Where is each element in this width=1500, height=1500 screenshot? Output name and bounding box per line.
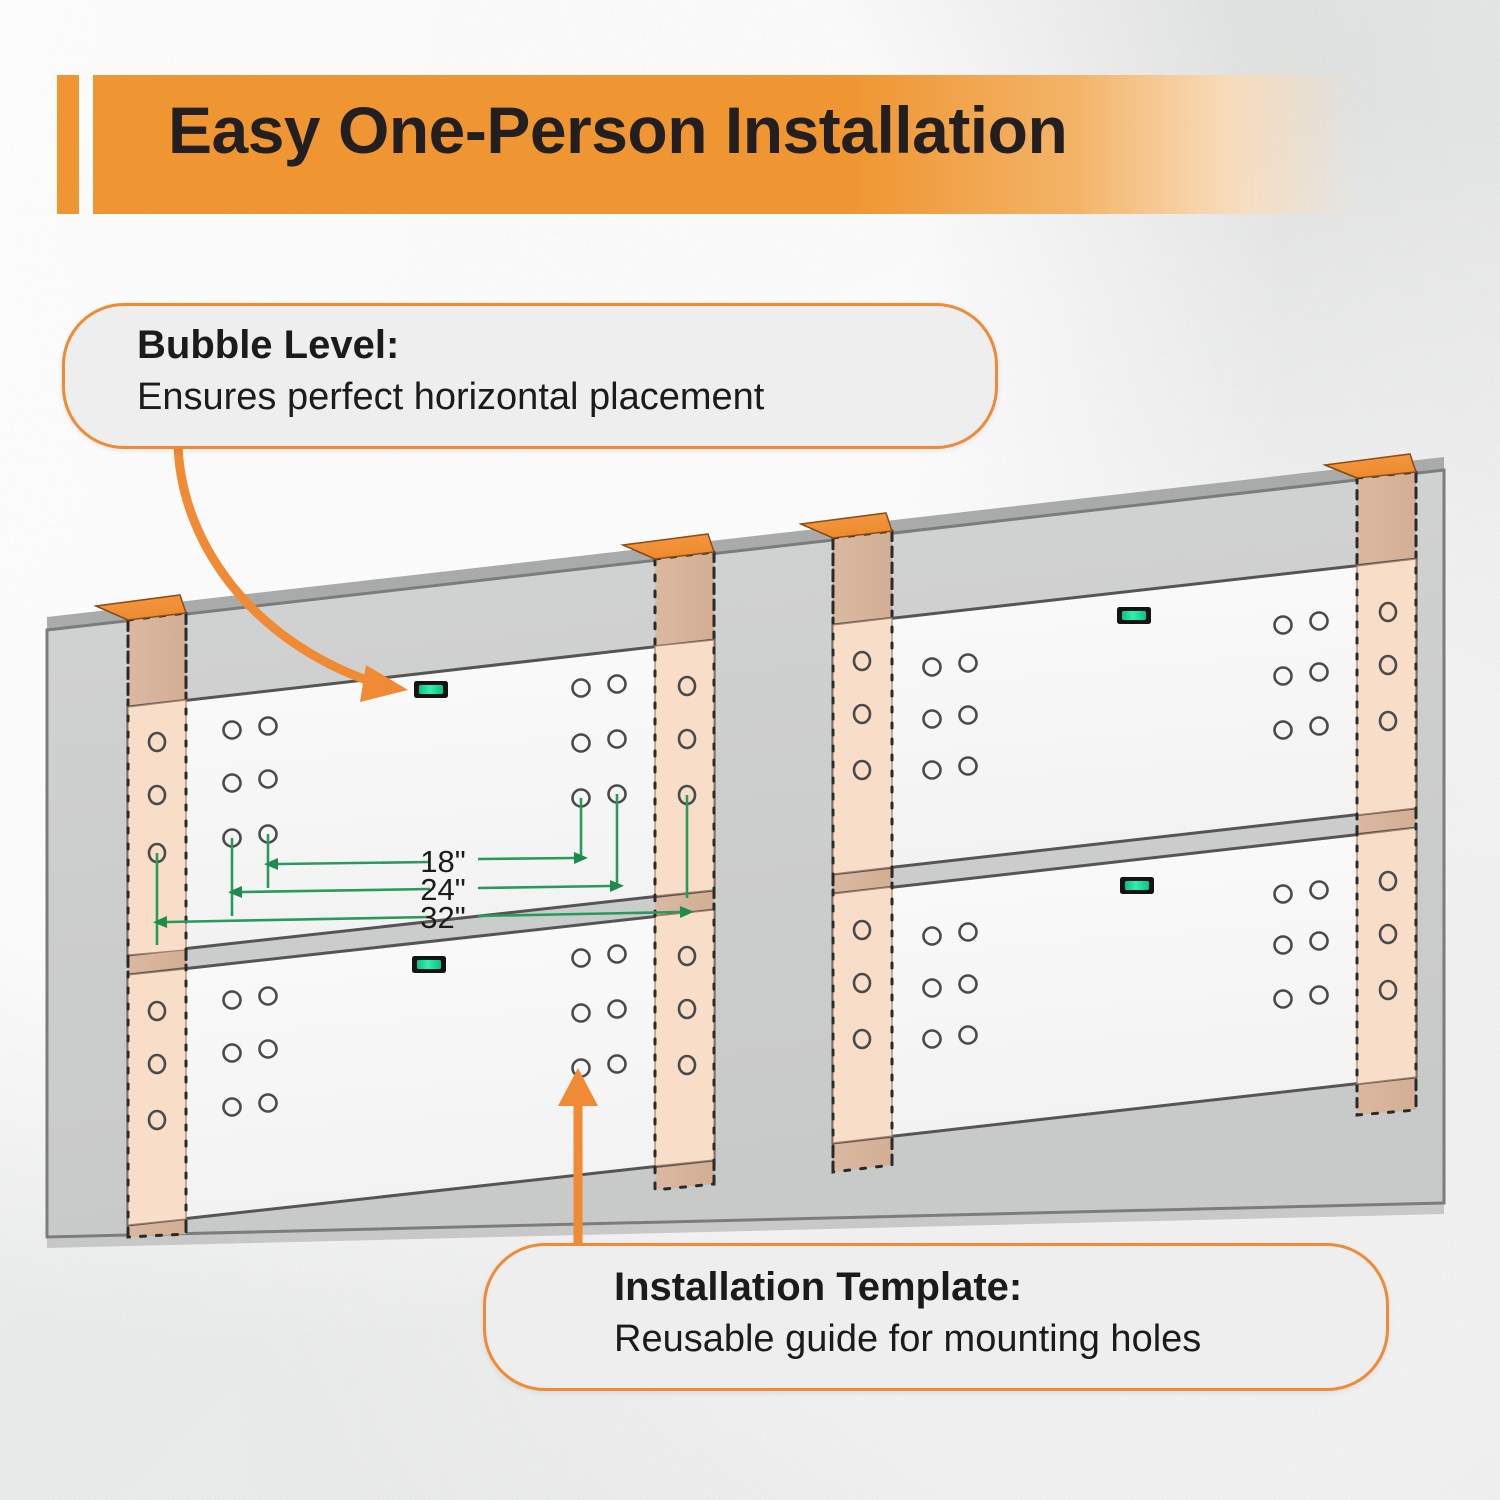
callout-bubble-level-subtitle: Ensures perfect horizontal placement <box>137 376 764 419</box>
callout-bubble-level: Bubble Level: Ensures perfect horizontal… <box>62 303 998 449</box>
measurement-labels: 18" 24" 32" <box>420 844 466 935</box>
measure-label: 32" <box>420 900 466 935</box>
callout-installation-template: Installation Template: Reusable guide fo… <box>483 1243 1389 1391</box>
callout-installation-template-subtitle: Reusable guide for mounting holes <box>614 1318 1201 1361</box>
callout-installation-template-title: Installation Template: <box>614 1266 1022 1308</box>
bubble-level-indicator <box>1117 607 1151 624</box>
bubble-level-indicator <box>412 956 446 973</box>
header-accent-bar <box>57 75 79 214</box>
header: Easy One-Person Installation <box>0 0 1500 230</box>
bubble-level-indicator <box>414 681 448 698</box>
bubble-level-indicator <box>1120 877 1154 894</box>
page-title: Easy One-Person Installation <box>168 92 1067 168</box>
callout-bubble-level-title: Bubble Level: <box>137 324 399 366</box>
